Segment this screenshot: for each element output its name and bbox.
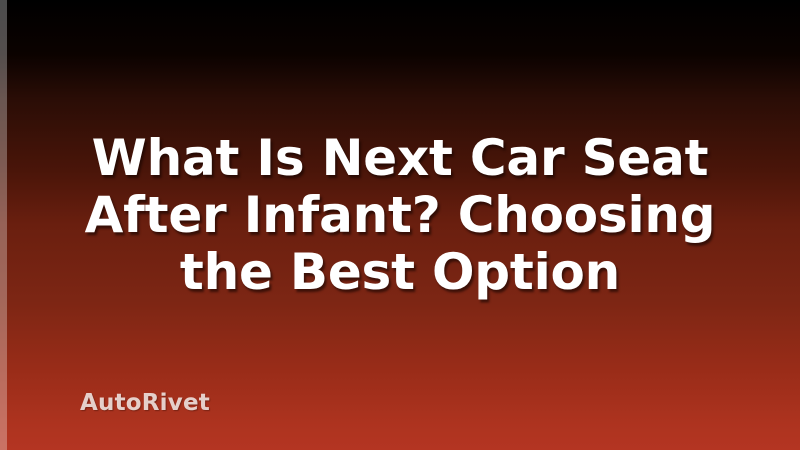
headline-title: What Is Next Car Seat After Infant? Choo…	[0, 130, 800, 301]
headline-line-3: the Best Option	[40, 244, 760, 301]
headline-line-1: What Is Next Car Seat	[40, 130, 760, 187]
brand-wordmark: AutoRivet	[80, 390, 210, 416]
thumbnail-card: What Is Next Car Seat After Infant? Choo…	[0, 0, 800, 450]
headline-line-2: After Infant? Choosing	[40, 187, 760, 244]
